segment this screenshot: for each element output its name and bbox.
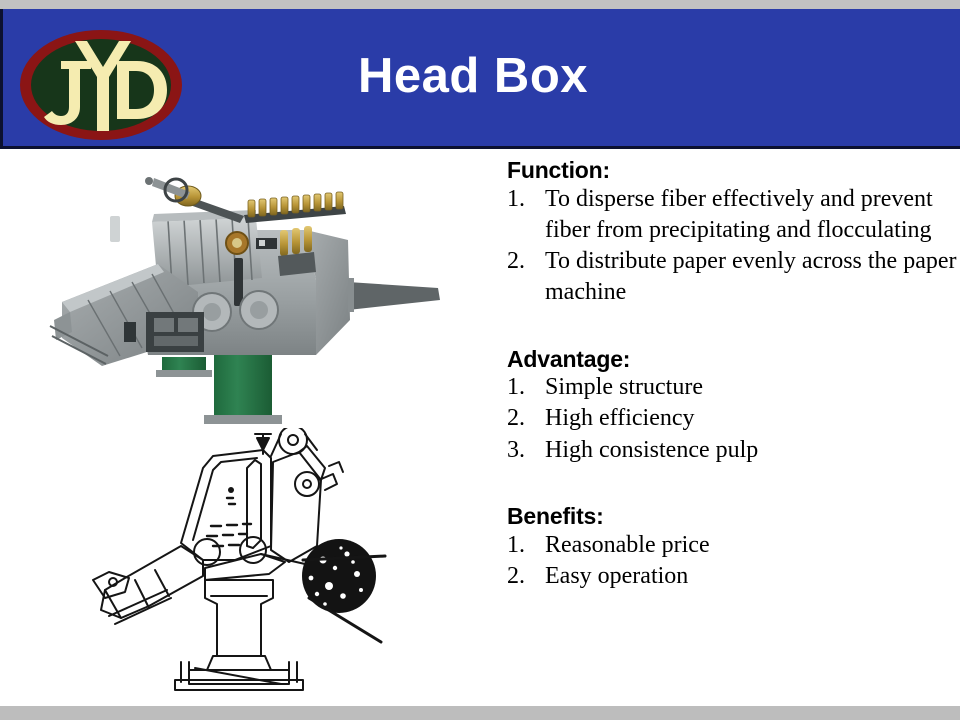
list-item-text: To disperse fiber effectively and preven…	[545, 186, 933, 243]
drawing-cover-arm	[271, 452, 321, 562]
list-item-text: High efficiency	[545, 405, 695, 431]
list-item: 1. Simple structure	[507, 372, 957, 403]
list-item: 1. Reasonable price	[507, 530, 957, 561]
section-advantage-heading: Advantage:	[507, 347, 957, 373]
machine-brass-valves	[244, 192, 346, 223]
list-item-number: 1.	[507, 372, 537, 403]
slide-root: Head Box	[0, 0, 960, 720]
list-item-number: 3.	[507, 435, 537, 466]
drawing-pedestal-column	[205, 580, 273, 656]
slide-header: Head Box	[0, 9, 960, 149]
head-box-machine-photo-svg	[48, 160, 448, 430]
list-item-text: Easy operation	[545, 563, 688, 589]
jyd-logo	[17, 27, 185, 143]
machine-gauge	[226, 232, 248, 254]
machine-nameplate-light	[259, 240, 265, 246]
machine-pedestal	[156, 352, 282, 424]
head-box-machine-photo	[48, 160, 448, 430]
jyd-logo-svg	[17, 27, 185, 143]
drawing-base-plate	[207, 656, 271, 670]
viewer-top-strip	[0, 0, 960, 9]
drawing-stock-level	[207, 524, 251, 546]
machine-side-cylinders	[278, 226, 316, 276]
list-item-number: 2.	[507, 246, 537, 277]
drawing-roll-left	[194, 539, 220, 565]
spacer-function-advantage	[507, 309, 957, 347]
section-advantage-list: 1. Simple structure 2. High efficiency 3…	[507, 372, 957, 466]
list-item-number: 2.	[507, 561, 537, 592]
list-item-number: 2.	[507, 403, 537, 434]
viewer-bottom-strip	[0, 706, 960, 720]
section-function-heading: Function:	[507, 158, 957, 184]
drawing-internal-vane	[247, 460, 261, 548]
machine-left-port	[124, 322, 136, 342]
list-item: 2. Easy operation	[507, 561, 957, 592]
section-function: Function: 1. To disperse fiber effective…	[507, 158, 957, 309]
page-title: Head Box	[358, 51, 898, 102]
section-benefits-list: 1. Reasonable price 2. Easy operation	[507, 530, 957, 592]
section-function-list: 1. To disperse fiber effectively and pre…	[507, 184, 957, 309]
content-column: Function: 1. To disperse fiber effective…	[507, 158, 957, 592]
list-item-text: Reasonable price	[545, 532, 710, 558]
machine-inspection-slot	[234, 258, 243, 306]
spacer-advantage-benefits	[507, 466, 957, 504]
section-benefits: Benefits: 1. Reasonable price 2. Easy op…	[507, 504, 957, 592]
list-item-number: 1.	[507, 530, 537, 561]
list-item-text: High consistence pulp	[545, 437, 758, 463]
machine-upper-sensor	[110, 216, 120, 242]
drawing-pivot-circle	[295, 472, 319, 496]
list-item: 1. To disperse fiber effectively and pre…	[507, 184, 957, 246]
list-item-number: 1.	[507, 184, 537, 215]
list-item-text: Simple structure	[545, 374, 703, 400]
head-box-cross-section-drawing	[85, 428, 395, 703]
machine-access-hatch	[146, 312, 204, 352]
list-item-text: To distribute paper evenly across the pa…	[545, 248, 957, 305]
section-advantage: Advantage: 1. Simple structure 2. High e…	[507, 347, 957, 466]
list-item: 3. High consistence pulp	[507, 435, 957, 466]
section-benefits-heading: Benefits:	[507, 504, 957, 530]
drawing-apron	[205, 554, 285, 580]
drawing-pulley	[279, 428, 307, 454]
list-item: 2. To distribute paper evenly across the…	[507, 246, 957, 308]
list-item: 2. High efficiency	[507, 403, 957, 434]
head-box-drawing-svg	[85, 428, 395, 703]
